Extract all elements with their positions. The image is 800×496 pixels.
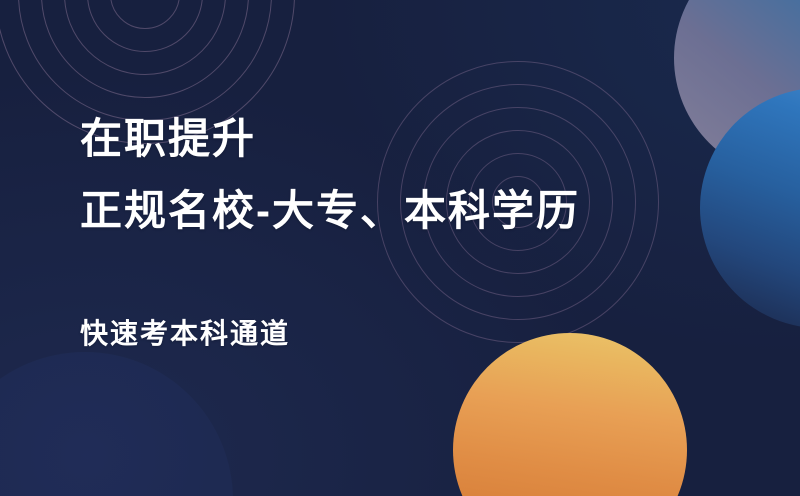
promo-banner: 在职提升 正规名校-大专、本科学历 快速考本科通道 — [0, 0, 800, 496]
headline-block: 在职提升 正规名校-大专、本科学历 — [80, 118, 740, 232]
headline-line-2: 正规名校-大专、本科学历 — [80, 190, 740, 232]
headline-line-1: 在职提升 — [80, 118, 740, 160]
sub-headline: 快速考本科通道 — [80, 320, 290, 348]
